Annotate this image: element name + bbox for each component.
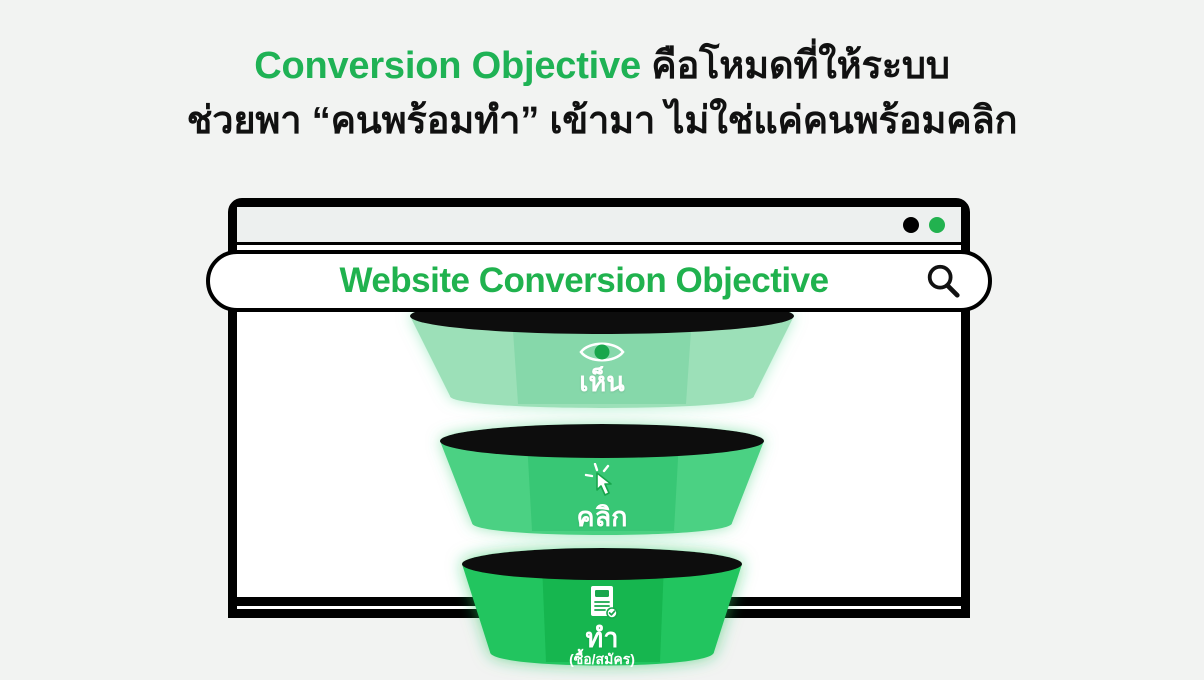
conversion-funnel: เห็น	[402, 300, 802, 660]
funnel-stage-click-content: คลิก	[402, 463, 802, 531]
page-title: Conversion Objective คือโหมดที่ให้ระบบ ช…	[0, 44, 1204, 144]
funnel-stage-do-sublabel: (ซื้อ/สมัคร)	[402, 652, 802, 667]
funnel-stage-do-label: ทำ	[402, 624, 802, 652]
click-cursor-icon	[582, 463, 622, 501]
funnel-stage-see-label: เห็น	[402, 368, 802, 396]
window-dot-green-icon[interactable]	[929, 217, 945, 233]
funnel-stage-click-label: คลิก	[402, 503, 802, 531]
headline-line-2: ช่วยพา “คนพร้อมทำ” เข้ามา ไม่ใช่แค่คนพร้…	[0, 99, 1204, 144]
screenshot-stage: Conversion Objective คือโหมดที่ให้ระบบ ช…	[0, 0, 1204, 680]
search-bar[interactable]: Website Conversion Objective	[206, 250, 992, 312]
headline-highlight: Conversion Objective	[254, 45, 641, 87]
funnel-stage-see-content: เห็น	[402, 338, 802, 396]
window-dot-black-icon[interactable]	[903, 217, 919, 233]
funnel-stage-do-content: ทำ (ซื้อ/สมัคร)	[402, 584, 802, 668]
search-input[interactable]: Website Conversion Objective	[244, 261, 924, 301]
headline-line-1-rest: คือโหมดที่ให้ระบบ	[641, 45, 950, 87]
eye-icon	[579, 338, 625, 366]
headline-line-1: Conversion Objective คือโหมดที่ให้ระบบ	[0, 44, 1204, 89]
search-icon[interactable]	[924, 262, 962, 300]
document-check-icon	[585, 584, 619, 622]
browser-titlebar	[237, 207, 961, 245]
